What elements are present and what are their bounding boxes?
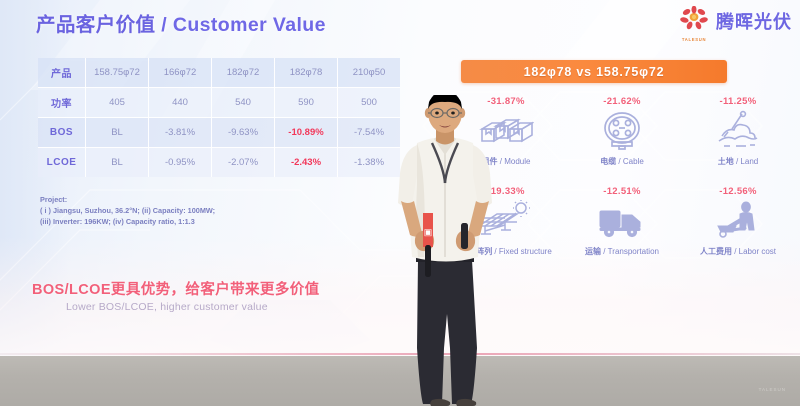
table-cell: 182φ78 [275,58,338,88]
brand-logo-latin: TALESUN [679,37,709,42]
comparison-item-label: 人工费用 / Labor cost [700,246,776,257]
table-cell: BL [86,118,149,148]
table-cell: 158.75φ72 [86,58,149,88]
project-note: Project: ( i ) Jiangsu, Suzhou, 36.2°N; … [40,194,215,227]
table-cell: -3.81% [149,118,212,148]
comparison-item-cable: -21.62% 电缆 / Cable [564,94,680,184]
table-row: LCOE BL -0.95% -2.07% -2.43% -1.38% [38,148,400,178]
row-header: BOS [38,118,86,148]
table-row: BOS BL -3.81% -9.63% -10.89% -7.54% [38,118,400,148]
table-cell: -9.63% [212,118,275,148]
comparison-item-label: 土地 / Land [718,156,758,167]
comparison-item-value: -21.62% [603,96,640,107]
project-note-line-2: (iii) Inverter: 196KW; (iv) Capacity rat… [40,216,215,227]
brand-logo-cn: 腾晖光伏 [716,8,792,34]
table-cell: -0.95% [149,148,212,178]
comparison-item-value: -11.25% [720,96,757,107]
comparison-item-label: 运输 / Transportation [585,246,659,257]
presenter-with-microphone: ▣ [385,95,505,406]
sun-flower-icon: TALESUN [679,6,709,36]
table-cell: 540 [212,88,275,118]
comparison-item-value: -12.56% [719,186,756,197]
slogan: BOS/LCOE更具优势，给客户带来更多价值 Lower BOS/LCOE, h… [32,278,320,313]
table-cell: 405 [86,88,149,118]
comparison-item-label: 电缆 / Cable [600,156,644,167]
row-header: LCOE [38,148,86,178]
table-cell: 166φ72 [149,58,212,88]
table-body: 产品 158.75φ72 166φ72 182φ72 182φ78 210φ50… [38,58,400,177]
cable-reel-icon [598,108,646,154]
labor-worker-icon [712,198,764,244]
project-note-title: Project: [40,194,215,205]
truck-icon [596,198,648,244]
comparison-item-label-cn: 电缆 [600,157,616,166]
table-cell: 182φ72 [212,58,275,88]
comparison-item-label-en: / Cable [616,157,644,166]
comparison-banner: 182φ78 vs 158.75φ72 [461,60,727,83]
comparison-item-label-en: / Labor cost [732,247,776,256]
comparison-item-land: -11.25% 土地 / Land [680,94,796,184]
table-cell-highlight: -10.89% [275,118,338,148]
page-title-separator: / [155,14,172,36]
row-header: 产品 [38,58,86,88]
scene-watermark: TALESUN [759,387,786,392]
page-title-cn: 产品客户价值 [36,14,155,36]
slogan-cn: BOS/LCOE更具优势，给客户带来更多价值 [32,282,320,298]
land-icon [712,108,764,154]
comparison-item-transportation: -12.51% [564,184,680,274]
comparison-item-label-cn: 土地 [718,157,734,166]
presentation-scene: 产品客户价值 / Customer Value [0,0,800,406]
page-title-en: Customer Value [173,14,326,36]
row-header: 功率 [38,88,86,118]
comparison-item-label-en: / Transportation [601,247,659,256]
brand-logo: TALESUN 腾晖光伏 [679,6,792,36]
comparison-item-labor-cost: -12.56% 人工 [680,184,796,274]
comparison-item-label-cn: 运输 [585,247,601,256]
table-cell: 440 [149,88,212,118]
table-cell: 210φ50 [338,58,401,88]
table-cell: BL [86,148,149,178]
table-row: 产品 158.75φ72 166φ72 182φ72 182φ78 210φ50 [38,58,400,88]
slogan-en: Lower BOS/LCOE, higher customer value [66,301,320,313]
page-title: 产品客户价值 / Customer Value [36,8,326,37]
table-cell-highlight: -2.43% [275,148,338,178]
comparison-item-label-cn: 人工费用 [700,247,732,256]
svg-text:▣: ▣ [424,227,433,237]
table-row: 功率 405 440 540 590 500 [38,88,400,118]
product-comparison-table: 产品 158.75φ72 166φ72 182φ72 182φ78 210φ50… [38,58,400,177]
comparison-banner-label: 182φ78 vs 158.75φ72 [524,65,665,79]
comparison-item-value: -12.51% [603,186,640,197]
comparison-item-label-en: / Land [734,157,758,166]
table-cell: -2.07% [212,148,275,178]
project-note-line-1: ( i ) Jiangsu, Suzhou, 36.2°N; (ii) Capa… [40,205,215,216]
table-cell: 590 [275,88,338,118]
